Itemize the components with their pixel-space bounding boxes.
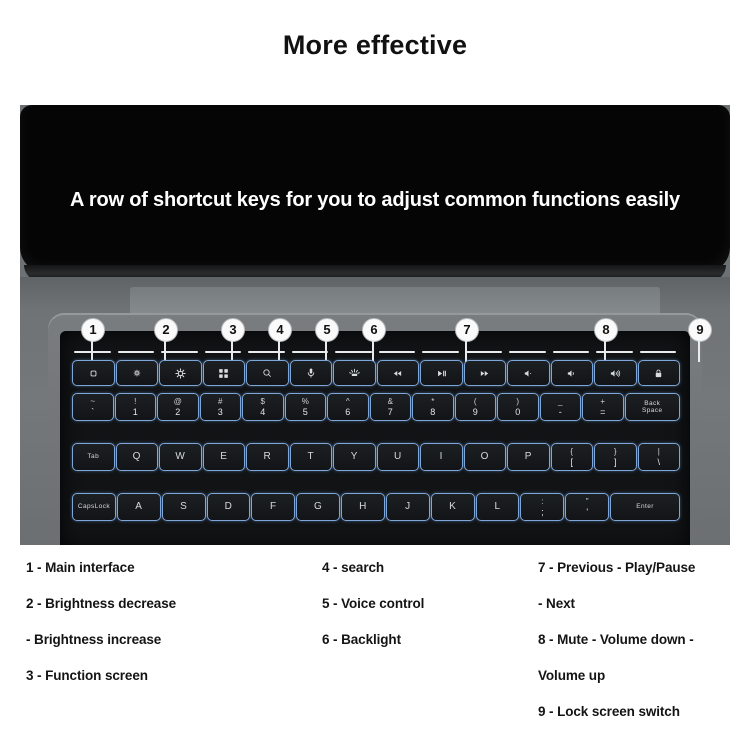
key-highlight-bar <box>466 351 503 353</box>
key-base-label: - <box>559 407 562 417</box>
backlight-icon <box>347 367 362 380</box>
home-key-s[interactable]: S <box>162 493 206 521</box>
caption-line: 6 - Backlight <box>322 632 401 647</box>
callout-number-badge: 1 <box>81 318 105 342</box>
key-label: BackSpace <box>642 400 662 415</box>
rewind-icon <box>391 368 404 379</box>
tablet-screen: A row of shortcut keys for you to adjust… <box>20 105 730 273</box>
num-key-2[interactable]: @2 <box>157 393 199 421</box>
fn-key-brightness-increase[interactable] <box>159 360 202 386</box>
key-base-label: 5 <box>303 407 308 417</box>
key-highlight-bar <box>205 351 242 353</box>
caption-legend: 1 - Main interface2 - Brightness decreas… <box>0 560 750 750</box>
key-label: W <box>175 451 185 463</box>
caption-line: Volume up <box>538 668 605 683</box>
caption-line: 3 - Function screen <box>26 668 148 683</box>
key-label: Enter <box>636 503 654 510</box>
key-label: E <box>220 451 227 463</box>
alpha-key-u[interactable]: U <box>377 443 420 471</box>
key-label: F <box>270 501 277 513</box>
key-highlight-bar <box>74 351 111 353</box>
key-shift-label: ) <box>516 397 519 406</box>
caption-line: 5 - Voice control <box>322 596 424 611</box>
caption-line: 1 - Main interface <box>26 560 134 575</box>
home-key-h[interactable]: H <box>341 493 385 521</box>
key-shift-label: * <box>431 397 434 406</box>
keyboard-hinge-band <box>130 287 660 315</box>
key-label: Y <box>351 451 358 463</box>
callout-number-badge: 4 <box>268 318 292 342</box>
fast-forward-icon <box>478 368 491 379</box>
key-base-label: 0 <box>515 407 520 417</box>
key-shift-label: : <box>541 497 543 506</box>
fn-key-volume-up[interactable] <box>594 360 637 386</box>
screen-headline: A row of shortcut keys for you to adjust… <box>20 189 730 212</box>
home-key-f[interactable]: F <box>251 493 295 521</box>
key-base-label: 8 <box>430 407 435 417</box>
key-base-label: 6 <box>345 407 350 417</box>
home-key-;[interactable]: :; <box>520 493 564 521</box>
key-shift-label: + <box>600 397 605 406</box>
callout-number-badge: 3 <box>221 318 245 342</box>
fn-key-previous[interactable] <box>377 360 420 386</box>
key-shift-label: ! <box>134 397 136 406</box>
key-shift-label: ( <box>474 397 477 406</box>
home-key-k[interactable]: K <box>431 493 475 521</box>
key-shift-label: @ <box>174 397 182 406</box>
key-base-label: 3 <box>218 407 223 417</box>
key-shift-label: ^ <box>346 397 350 406</box>
alpha-key-o[interactable]: O <box>464 443 507 471</box>
caption-line: 2 - Brightness decrease <box>26 596 176 611</box>
key-label: I <box>440 451 443 463</box>
key-base-label: = <box>600 407 605 417</box>
alpha-key-[[interactable]: {[ <box>551 443 594 471</box>
key-label: O <box>481 451 489 463</box>
callout-number-badge: 9 <box>688 318 712 342</box>
key-base-label: ] <box>614 457 617 467</box>
num-key-0[interactable]: )0 <box>497 393 539 421</box>
key-label: U <box>394 451 402 463</box>
key-shift-label: % <box>302 397 309 406</box>
key-base-label: 7 <box>388 407 393 417</box>
key-highlight-bar <box>596 351 633 353</box>
play-pause-icon <box>435 368 448 379</box>
caption-line: - Brightness increase <box>26 632 161 647</box>
callout-number-badge: 6 <box>362 318 386 342</box>
key-highlight-bar <box>248 351 285 353</box>
brightness-high-icon <box>173 366 188 381</box>
key-highlight-bar <box>335 351 372 353</box>
key-base-label: ' <box>586 507 588 517</box>
key-base-label: \ <box>657 457 660 467</box>
callout-stem <box>698 340 700 362</box>
key-shift-label: $ <box>261 397 265 406</box>
key-label: H <box>359 501 367 513</box>
caption-line: 7 - Previous - Play/Pause <box>538 560 695 575</box>
num-key-8[interactable]: *8 <box>412 393 454 421</box>
alpha-key-\[interactable]: |\ <box>638 443 681 471</box>
home-key-capslock[interactable]: CapsLock <box>72 493 116 521</box>
key-label: S <box>180 501 187 513</box>
lock-icon <box>653 367 664 380</box>
key-label: T <box>307 451 314 463</box>
num-key-=[interactable]: += <box>582 393 624 421</box>
alpha-key-tab[interactable]: Tab <box>72 443 115 471</box>
home-key-'[interactable]: "' <box>565 493 609 521</box>
num-key-5[interactable]: %5 <box>285 393 327 421</box>
key-label: CapsLock <box>78 503 110 510</box>
num-key-4[interactable]: $4 <box>242 393 284 421</box>
alpha-key-q[interactable]: Q <box>116 443 159 471</box>
fn-key-play-pause[interactable] <box>420 360 463 386</box>
brightness-low-icon <box>131 367 143 379</box>
key-highlight-bar <box>118 351 155 353</box>
key-base-label: ` <box>91 407 94 417</box>
key-shift-label: " <box>586 497 589 506</box>
mute-icon <box>522 368 535 379</box>
microphone-icon <box>305 367 317 379</box>
key-label: J <box>405 501 410 513</box>
alpha-key-][interactable]: }] <box>594 443 637 471</box>
fn-key-search[interactable] <box>246 360 289 386</box>
key-label: R <box>263 451 271 463</box>
alpha-key-t[interactable]: T <box>290 443 333 471</box>
alpha-key-i[interactable]: I <box>420 443 463 471</box>
home-key-j[interactable]: J <box>386 493 430 521</box>
alpha-key-p[interactable]: P <box>507 443 550 471</box>
fn-key-next[interactable] <box>464 360 507 386</box>
fn-key-mute[interactable] <box>507 360 550 386</box>
key-highlight-bar <box>161 351 198 353</box>
key-base-label: 2 <box>175 407 180 417</box>
home-key-l[interactable]: L <box>476 493 520 521</box>
callout-number-badge: 5 <box>315 318 339 342</box>
num-key-1[interactable]: !1 <box>115 393 157 421</box>
key-base-label: 4 <box>260 407 265 417</box>
key-highlight-bar <box>509 351 546 353</box>
key-base-label: 1 <box>133 407 138 417</box>
caption-line: 4 - search <box>322 560 384 575</box>
caption-line: 8 - Mute - Volume down - <box>538 632 694 647</box>
alpha-key-w[interactable]: W <box>159 443 202 471</box>
home-key-a[interactable]: A <box>117 493 161 521</box>
fn-key-brightness-decrease[interactable] <box>116 360 159 386</box>
volume-up-icon <box>608 368 622 379</box>
home-key-d[interactable]: D <box>207 493 251 521</box>
key-shift-label: _ <box>558 397 562 406</box>
key-shift-label: | <box>658 447 660 456</box>
key-shift-label: ~ <box>90 397 95 406</box>
volume-down-icon <box>565 368 578 379</box>
num-key-`[interactable]: ~` <box>72 393 114 421</box>
key-highlight-bar <box>553 351 590 353</box>
fn-key-volume-down[interactable] <box>551 360 594 386</box>
key-label: K <box>449 501 456 513</box>
home-key-enter[interactable]: Enter <box>610 493 680 521</box>
home-square-icon <box>87 367 100 380</box>
key-highlight-bar <box>640 351 677 353</box>
key-shift-label: # <box>218 397 222 406</box>
callout-number-badge: 7 <box>455 318 479 342</box>
caption-line: 9 - Lock screen switch <box>538 704 680 719</box>
key-base-label: ; <box>541 507 544 517</box>
num-key-back-space[interactable]: BackSpace <box>625 393 681 421</box>
alpha-key-r[interactable]: R <box>246 443 289 471</box>
num-key-6[interactable]: ^6 <box>327 393 369 421</box>
key-shift-label: { <box>570 447 573 456</box>
callout-number-badge: 8 <box>594 318 618 342</box>
fn-key-function-screen[interactable] <box>203 360 246 386</box>
num-key--[interactable]: _- <box>540 393 582 421</box>
key-label: Q <box>133 451 141 463</box>
key-label: G <box>314 501 322 513</box>
callout-number-badge: 2 <box>154 318 178 342</box>
callout-stem <box>372 340 374 362</box>
num-key-3[interactable]: #3 <box>200 393 242 421</box>
num-key-9[interactable]: (9 <box>455 393 497 421</box>
key-base-label: 9 <box>473 407 478 417</box>
grid-icon <box>217 367 230 380</box>
fn-key-main-interface[interactable] <box>72 360 115 386</box>
alpha-key-y[interactable]: Y <box>333 443 376 471</box>
key-label: A <box>135 501 142 513</box>
home-key-g[interactable]: G <box>296 493 340 521</box>
fn-key-lock-screen-switch[interactable] <box>638 360 681 386</box>
key-base-label: [ <box>570 457 573 467</box>
key-label: L <box>495 501 501 513</box>
key-label: Tab <box>87 453 99 460</box>
fn-key-backlight[interactable] <box>333 360 376 386</box>
key-label: P <box>525 451 532 463</box>
key-highlight-bar <box>422 351 459 353</box>
product-photo: A row of shortcut keys for you to adjust… <box>20 105 730 545</box>
key-label: D <box>225 501 233 513</box>
fn-key-voice-control[interactable] <box>290 360 333 386</box>
key-highlight-bar <box>292 351 329 353</box>
key-highlight-bar <box>379 351 416 353</box>
caption-line: - Next <box>538 596 575 611</box>
key-shift-label: & <box>388 397 393 406</box>
alpha-key-e[interactable]: E <box>203 443 246 471</box>
page-title: More effective <box>0 30 750 61</box>
search-icon <box>261 367 273 379</box>
num-key-7[interactable]: &7 <box>370 393 412 421</box>
key-shift-label: } <box>614 447 617 456</box>
